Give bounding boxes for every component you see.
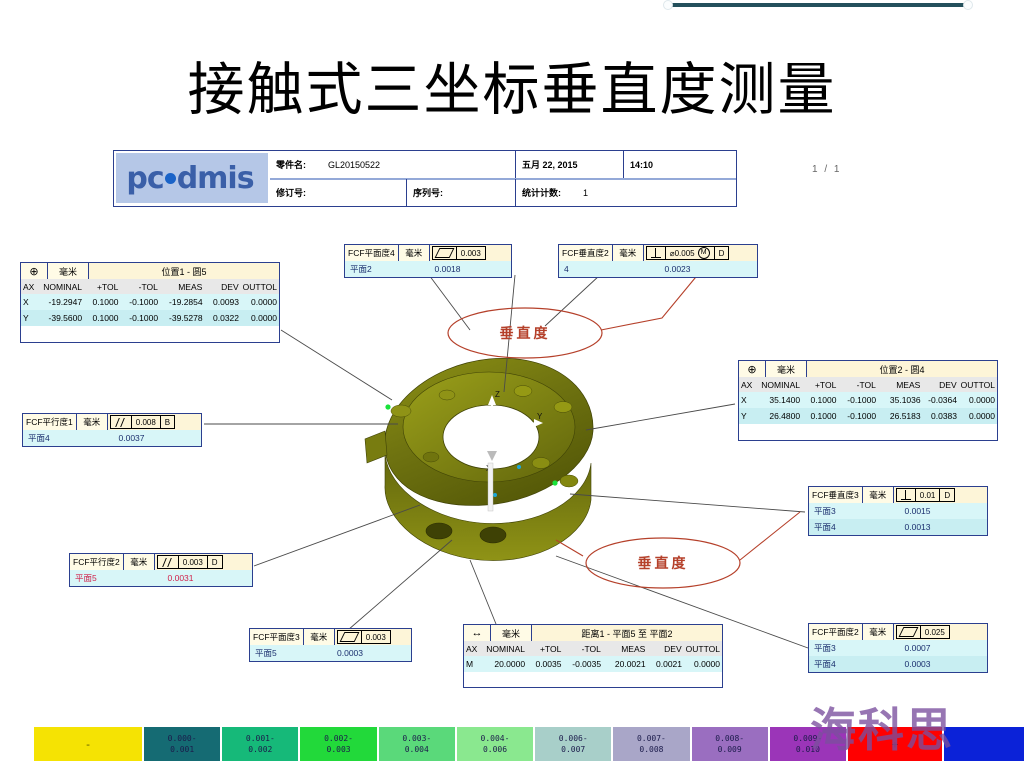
fcf-flatness-4[interactable]: FCF平面度4 毫米 0.003 平面2 0.0018	[344, 244, 512, 278]
distance-table-caption: 距离1 - 平面5 至 平面2	[532, 625, 722, 641]
serial-cell: 序列号:	[406, 179, 515, 206]
legend-segment-6: 0.007- 0.008	[613, 727, 691, 761]
slide-root: 接触式三坐标垂直度测量 pcdmis 零件名: GL20150522 五月 22…	[0, 0, 1024, 768]
watermark: 海科思	[810, 694, 954, 760]
fcf-unit: 毫米	[124, 554, 155, 570]
fcf-value: 0.0013	[876, 522, 987, 532]
fcf-feature: 平面2	[345, 263, 412, 275]
table-row: M 20.0000 0.0035 -0.0035 20.0021 0.0021 …	[464, 656, 722, 672]
fcf-name: FCF平行度2	[70, 554, 124, 570]
model-through-hole	[426, 523, 452, 539]
model-through-hole	[480, 527, 506, 543]
fcf-name: FCF垂直度3	[809, 487, 863, 503]
model-hole	[391, 405, 411, 417]
fcf-name: FCF平面度2	[809, 624, 863, 640]
model-hole	[423, 452, 439, 462]
pcdmis-logo-text: pcdmis	[126, 161, 253, 196]
legend-segment-1: 0.001- 0.002	[222, 727, 300, 761]
fcf-feature: 4	[559, 264, 626, 274]
measured-point	[385, 404, 390, 409]
flatness-symbol-icon	[433, 247, 457, 259]
model-hole	[560, 475, 578, 487]
fcf-row: 4 0.0023	[559, 261, 757, 277]
legend-segment-4: 0.004- 0.006	[457, 727, 535, 761]
model-hole	[514, 386, 532, 397]
fcf-parallelism-1[interactable]: FCF平行度1 毫米 0.008 B 平面4 0.0037	[22, 413, 202, 447]
legend-segment-7: 0.008- 0.009	[692, 727, 770, 761]
perpendicularity-symbol-icon	[897, 489, 916, 501]
mmc-modifier-icon: M	[698, 247, 710, 259]
fcf-tolerance: 0.003	[362, 631, 390, 643]
table-row: Y 26.4800 0.1000 -0.1000 26.5183 0.0383 …	[739, 408, 997, 424]
revision-cell: 修订号:	[270, 179, 406, 206]
table-row: Y -39.5600 0.1000 -0.1000 -39.5278 0.032…	[21, 310, 279, 326]
page-indicator: 1 / 1	[812, 164, 841, 175]
fcf-feature: 平面4	[809, 521, 876, 533]
legend-segment-tail	[944, 727, 1024, 761]
part-name-label: 零件名:	[276, 158, 306, 171]
report-header: pcdmis 零件名: GL20150522 五月 22, 2015 14:10…	[113, 150, 737, 207]
fcf-name: FCF平面度3	[250, 629, 304, 645]
legend-segment-5: 0.006- 0.007	[535, 727, 613, 761]
fcf-unit: 毫米	[613, 245, 644, 261]
fcf-tolerance-group: ⌀0.005 M	[666, 247, 715, 259]
fcf-value: 0.0031	[137, 573, 252, 583]
fcf-row: 平面3 0.0007	[809, 640, 987, 656]
parallelism-symbol-icon	[158, 556, 179, 568]
fcf-name: FCF平面度4	[345, 245, 399, 261]
callout-leader-top	[601, 272, 700, 330]
fcf-value: 0.0003	[317, 648, 411, 658]
fcf-tolerance: 0.01	[916, 489, 941, 501]
selection-handle-left[interactable]	[663, 0, 673, 10]
col-dev: DEV	[204, 282, 240, 292]
fcf-unit: 毫米	[77, 414, 108, 430]
fcf-perpendicularity-3[interactable]: FCF垂直度3 毫米 0.01 D 平面3 0.0015 平面4 0.0013	[808, 486, 988, 536]
fcf-flatness-2[interactable]: FCF平面度2 毫米 0.025 平面3 0.0007 平面4 0.0003	[808, 623, 988, 673]
part-name-cell: 零件名: GL20150522	[270, 151, 515, 178]
fcf-tolerance: 0.008	[132, 416, 161, 428]
col-outtol: OUTTOL	[241, 282, 279, 292]
fcf-unit: 毫米	[399, 245, 430, 261]
pcdmis-logo: pcdmis	[116, 153, 268, 203]
probe-stem	[488, 463, 493, 511]
fcf-row: 平面4 0.0037	[23, 430, 201, 446]
unit-label: 毫米	[48, 263, 89, 279]
fcf-perpendicularity-2[interactable]: FCF垂直度2 毫米 ⌀0.005 M D 4 0.0023	[558, 244, 758, 278]
column-header-row: AX NOMINAL +TOL -TOL MEAS DEV OUTTOL	[21, 279, 279, 294]
distance-table-1[interactable]: ↔ 毫米 距离1 - 平面5 至 平面2 AX NOMINAL +TOL -TO…	[463, 624, 723, 688]
column-header-row: AX NOMINAL +TOL -TOL MEAS DEV OUTTOL	[739, 377, 997, 392]
col-meas: MEAS	[160, 282, 204, 292]
fcf-tolerance: ⌀0.005	[670, 249, 695, 258]
callout-bottom: 垂直度	[586, 538, 740, 588]
fcf-flatness-3[interactable]: FCF平面度3 毫米 0.003 平面5 0.0003	[249, 628, 412, 662]
fcf-value: 0.0023	[626, 264, 757, 274]
position-table-1[interactable]: ⊕ 毫米 位置1 - 圆5 AX NOMINAL +TOL -TOL MEAS …	[20, 262, 280, 343]
position-table-2[interactable]: ⊕ 毫米 位置2 - 圆4 AX NOMINAL +TOL -TOL MEAS …	[738, 360, 998, 441]
fcf-row: 平面5 0.0031	[70, 570, 252, 586]
fcf-name: FCF垂直度2	[559, 245, 613, 261]
fcf-tolerance: 0.003	[457, 247, 485, 259]
measured-point	[493, 493, 497, 497]
callout-leader-bottom	[740, 512, 800, 560]
fcf-feature: 平面4	[809, 658, 876, 670]
position-symbol-icon: ⊕	[21, 263, 48, 279]
time-value: 14:10	[630, 160, 653, 170]
fcf-datum: D	[940, 489, 954, 501]
model-left-boss	[365, 431, 387, 463]
axis-y-label: Y	[537, 412, 543, 421]
perpendicularity-symbol-icon	[647, 247, 666, 259]
selection-handle-right[interactable]	[963, 0, 973, 10]
stat-count-label: 统计计数:	[522, 186, 561, 199]
fcf-feature: 平面3	[809, 505, 876, 517]
fcf-tolerance: 0.003	[179, 556, 208, 568]
measured-point	[552, 480, 557, 485]
measured-point	[517, 465, 521, 469]
col-mtol: -TOL	[120, 282, 160, 292]
unit-label: 毫米	[766, 361, 807, 377]
fcf-feature: 平面4	[23, 432, 90, 444]
table-row: X 35.1400 0.1000 -0.1000 35.1036 -0.0364…	[739, 392, 997, 408]
model-hole	[439, 390, 455, 400]
fcf-name: FCF平行度1	[23, 414, 77, 430]
fcf-feature: 平面5	[70, 572, 137, 584]
date-cell: 五月 22, 2015	[515, 151, 623, 178]
fcf-row: 平面2 0.0018	[345, 261, 511, 277]
stat-count-cell: 统计计数: 1	[515, 179, 736, 206]
col-nominal: NOMINAL	[40, 282, 84, 292]
model-hole	[554, 402, 572, 413]
cad-model-svg: Z Y X	[355, 335, 615, 580]
legend-segment-0: 0.000- 0.001	[144, 727, 222, 761]
callout-top: 垂直度	[448, 308, 602, 358]
col-ax: AX	[21, 282, 40, 292]
fcf-feature: 平面5	[250, 647, 317, 659]
legend-segment-3: 0.003- 0.004	[379, 727, 457, 761]
fcf-unit: 毫米	[304, 629, 335, 645]
position-symbol-icon: ⊕	[739, 361, 766, 377]
model-hole	[532, 458, 550, 469]
fcf-row: 平面3 0.0015	[809, 503, 987, 519]
fcf-unit: 毫米	[863, 624, 894, 640]
col-ptol: +TOL	[84, 282, 120, 292]
fcf-datum: D	[208, 556, 222, 568]
position-table-2-caption: 位置2 - 圆4	[807, 361, 997, 377]
part-name-value: GL20150522	[328, 160, 380, 170]
table-row: X -19.2947 0.1000 -0.1000 -19.2854 0.009…	[21, 294, 279, 310]
fcf-value: 0.0037	[90, 433, 201, 443]
fcf-unit: 毫米	[863, 487, 894, 503]
fcf-tolerance: 0.025	[921, 626, 949, 638]
flatness-symbol-icon	[897, 626, 921, 638]
fcf-value: 0.0015	[876, 506, 987, 516]
fcf-datum: D	[715, 247, 729, 259]
flatness-symbol-icon	[338, 631, 362, 643]
fcf-row: 平面4 0.0003	[809, 656, 987, 672]
position-table-1-caption: 位置1 - 圆5	[89, 263, 279, 279]
distance-arrow-icon: ↔	[464, 625, 491, 641]
fcf-row: 平面4 0.0013	[809, 519, 987, 535]
fcf-parallelism-2[interactable]: FCF平行度2 毫米 0.003 D 平面5 0.0031	[69, 553, 253, 587]
top-selection-bar[interactable]	[668, 3, 968, 7]
unit-label: 毫米	[491, 625, 532, 641]
fcf-value: 0.0003	[876, 659, 987, 669]
fcf-feature: 平面3	[809, 642, 876, 654]
fcf-value: 0.0018	[412, 264, 511, 274]
fcf-value: 0.0007	[876, 643, 987, 653]
callout-top-label: 垂直度	[448, 308, 602, 358]
legend-segment-minus: -	[34, 727, 144, 761]
cad-model-viewport[interactable]: Z Y X	[355, 335, 615, 580]
callout-bottom-label: 垂直度	[586, 538, 740, 588]
logo-dot-icon	[165, 173, 176, 184]
fcf-datum: B	[161, 416, 174, 428]
serial-label: 序列号:	[413, 186, 443, 199]
date-value: 五月 22, 2015	[522, 158, 578, 171]
parallelism-symbol-icon	[111, 416, 132, 428]
stat-count-value: 1	[583, 188, 588, 198]
column-header-row: AX NOMINAL +TOL -TOL MEAS DEV OUTTOL	[464, 641, 722, 656]
legend-segment-2: 0.002- 0.003	[300, 727, 378, 761]
revision-label: 修订号:	[276, 186, 306, 199]
page-title: 接触式三坐标垂直度测量	[0, 55, 1024, 125]
axis-z-label: Z	[495, 390, 500, 399]
fcf-row: 平面5 0.0003	[250, 645, 411, 661]
time-cell: 14:10	[623, 151, 736, 178]
